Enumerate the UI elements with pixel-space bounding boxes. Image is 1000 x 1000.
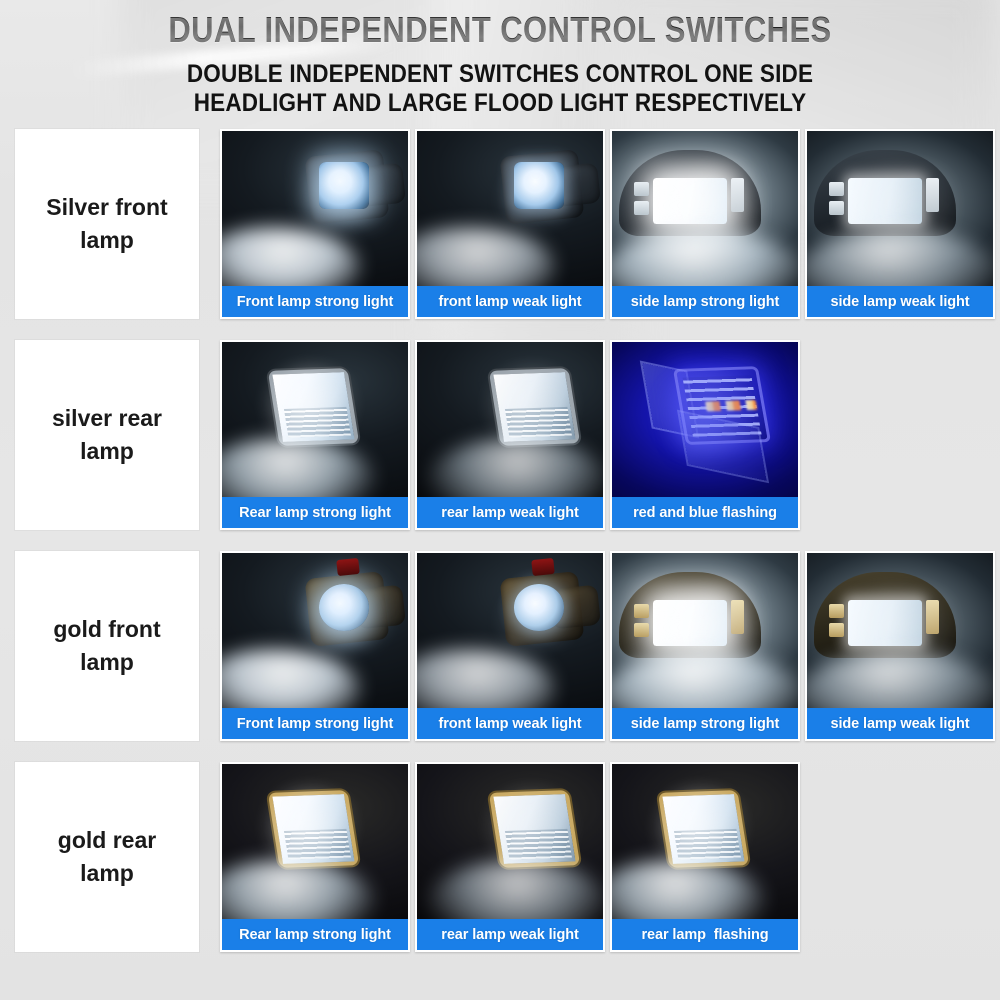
mode-caption: rear lamp flashing [612,919,798,950]
mode-cell[interactable]: side lamp weak light [805,551,995,741]
lens-beam-glow [484,171,588,227]
row-label-silver-rear: silver rearlamp [15,340,199,530]
mode-caption: Front lamp strong light [222,286,408,317]
mode-cell[interactable]: side lamp strong light [610,551,800,741]
row-cells: Front lamp strong light front lamp weak … [220,551,995,741]
mode-cell[interactable]: front lamp weak light [415,551,605,741]
panel-beam-glow [642,786,757,870]
mode-cell[interactable]: side lamp strong light [610,129,800,319]
mode-caption: side lamp weak light [807,708,993,739]
lens-beam-glow [289,171,393,227]
row-label-silver-front: Silver frontlamp [15,129,199,319]
row-label-gold-rear: gold rearlamp [15,762,199,952]
mode-caption: Rear lamp strong light [222,497,408,528]
mode-photo [612,131,798,286]
mode-caption: Rear lamp strong light [222,919,408,950]
row-label-line-1: Silver front [46,194,167,220]
row-label-line-2: lamp [80,649,134,675]
panel-beam-glow [473,364,588,448]
mode-caption: rear lamp weak light [417,919,603,950]
mode-caption: Front lamp strong light [222,708,408,739]
uv-beam-glow [645,370,775,457]
mode-cell[interactable]: side lamp weak light [805,129,995,319]
panel-beam-glow [252,786,367,870]
mode-caption: side lamp weak light [807,286,993,317]
mode-photo [417,764,603,919]
comparison-row: Silver frontlamp Front lamp strong light… [15,129,1000,319]
mode-cell[interactable]: Front lamp strong light [220,551,410,741]
mode-photo [417,553,603,708]
mode-caption: rear lamp weak light [417,497,603,528]
mode-photo [222,764,408,919]
comparison-row: silver rearlamp Rear lamp strong light r… [15,340,1000,530]
panel-beam-glow [473,786,588,870]
comparison-row: gold frontlamp Front lamp strong light f… [15,551,1000,741]
comparison-grid: Silver frontlamp Front lamp strong light… [0,129,1000,952]
mode-cell[interactable]: rear lamp weak light [415,340,605,530]
mode-caption: side lamp strong light [612,708,798,739]
row-cells: Front lamp strong light front lamp weak … [220,129,995,319]
row-label-line-1: gold rear [58,827,156,853]
row-cells: Rear lamp strong light rear lamp weak li… [220,340,800,530]
row-label-line-2: lamp [80,438,134,464]
subtitle-line-2: HEADLIGHT AND LARGE FLOOD LIGHT RESPECTI… [50,89,950,118]
mode-cell[interactable]: red and blue flashing [610,340,800,530]
row-cells: Rear lamp strong light rear lamp weak li… [220,762,800,952]
mode-photo [612,342,798,497]
mode-cell[interactable]: front lamp weak light [415,129,605,319]
mode-caption: red and blue flashing [612,497,798,528]
row-label-line-1: gold front [53,616,160,642]
row-label-line-2: lamp [80,860,134,886]
subtitle-line-1: DOUBLE INDEPENDENT SWITCHES CONTROL ONE … [50,60,950,89]
page-subtitle: DOUBLE INDEPENDENT SWITCHES CONTROL ONE … [50,60,950,117]
mode-caption: side lamp strong light [612,286,798,317]
mode-photo [612,764,798,919]
mode-photo [222,131,408,286]
header: DUAL INDEPENDENT CONTROL SWITCHES DOUBLE… [0,0,1000,117]
mode-photo [417,342,603,497]
row-label-line-2: lamp [80,227,134,253]
mode-photo [417,131,603,286]
mode-photo [222,342,408,497]
panel-beam-glow [252,364,367,448]
lens-beam-glow [289,593,393,649]
mode-photo [807,131,993,286]
lens-beam-glow [484,593,588,649]
mode-cell[interactable]: Rear lamp strong light [220,340,410,530]
page-title: DUAL INDEPENDENT CONTROL SWITCHES [70,8,930,50]
comparison-row: gold rearlamp Rear lamp strong light rea… [15,762,1000,952]
mode-photo [612,553,798,708]
mode-photo [807,553,993,708]
red-switch [532,558,556,576]
mode-cell[interactable]: Front lamp strong light [220,129,410,319]
red-switch [337,558,361,576]
row-label-gold-front: gold frontlamp [15,551,199,741]
mode-cell[interactable]: rear lamp flashing [610,762,800,952]
mode-cell[interactable]: rear lamp weak light [415,762,605,952]
mode-caption: front lamp weak light [417,708,603,739]
mode-cell[interactable]: Rear lamp strong light [220,762,410,952]
row-label-line-1: silver rear [52,405,162,431]
mode-caption: front lamp weak light [417,286,603,317]
mode-photo [222,553,408,708]
